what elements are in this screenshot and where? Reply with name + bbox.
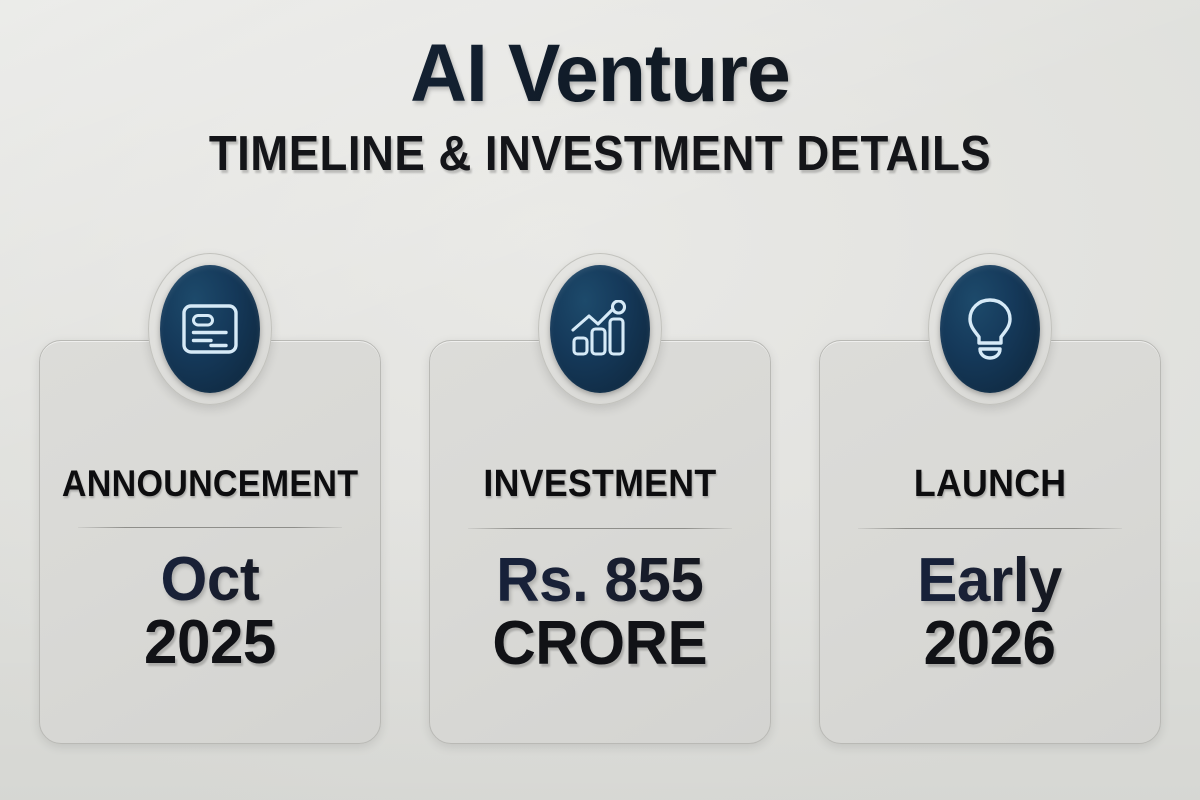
- header: AI Venture TIMELINE & INVESTMENT DETAILS: [0, 0, 1200, 182]
- page-title: AI Venture: [24, 34, 1176, 114]
- info-card-launch[interactable]: LAUNCH Early 2026: [819, 340, 1161, 744]
- card-divider: [858, 528, 1122, 529]
- info-card-investment[interactable]: INVESTMENT Rs. 855 CRORE: [429, 340, 771, 744]
- badge-announcement: [148, 253, 272, 405]
- lightbulb-icon: [963, 296, 1017, 362]
- card-value: Rs. 855 CRORE: [493, 549, 708, 675]
- card-divider: [78, 527, 342, 528]
- card-value-line1: Rs. 855: [493, 549, 708, 612]
- card-value-line2: CRORE: [493, 612, 708, 675]
- card-value: Oct 2025: [144, 548, 276, 674]
- badge-investment: [538, 253, 662, 405]
- card-label: ANNOUNCEMENT: [62, 463, 358, 505]
- growth-bar-chart-icon: [569, 300, 631, 358]
- page-subtitle: TIMELINE & INVESTMENT DETAILS: [42, 126, 1158, 182]
- badge-inner-investment: [550, 265, 650, 393]
- card-value-line2: 2025: [144, 611, 276, 674]
- info-card-announcement[interactable]: ANNOUNCEMENT Oct 2025: [39, 340, 381, 744]
- card-value-line1: Early: [918, 549, 1063, 612]
- card-label: LAUNCH: [914, 463, 1067, 506]
- card-divider: [468, 528, 732, 529]
- badge-inner-announcement: [160, 265, 260, 393]
- card-value: Early 2026: [918, 549, 1063, 675]
- card-value-line1: Oct: [144, 548, 276, 611]
- announcement-document-icon: [179, 301, 241, 357]
- card-value-line2: 2026: [918, 612, 1063, 675]
- badge-launch: [928, 253, 1052, 405]
- card-label: INVESTMENT: [483, 463, 716, 506]
- badge-inner-launch: [940, 265, 1040, 393]
- info-card-row: ANNOUNCEMENT Oct 2025 INVESTME: [0, 340, 1200, 744]
